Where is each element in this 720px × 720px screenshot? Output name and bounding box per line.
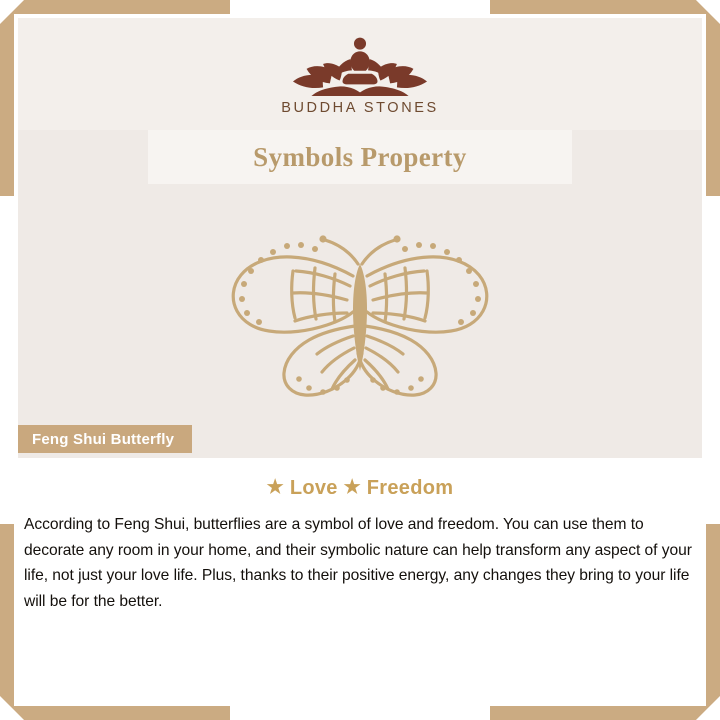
frame-corner-bottom-right-vertical bbox=[706, 524, 720, 720]
star-icon-left: ★ bbox=[267, 477, 284, 498]
frame-corner-top-left-horizontal bbox=[0, 0, 230, 14]
page-title: Symbols Property bbox=[253, 142, 467, 173]
frame-corner-bottom-left-horizontal bbox=[0, 706, 230, 720]
frame-corner-top-right-vertical bbox=[706, 0, 720, 196]
brand-name: BUDDHA STONES bbox=[281, 100, 439, 116]
brand-header: BUDDHA STONES bbox=[18, 18, 702, 130]
description-paragraph: According to Feng Shui, butterflies are … bbox=[22, 512, 698, 614]
title-ribbon: Symbols Property bbox=[148, 130, 572, 184]
subheading-word-love: Love bbox=[290, 477, 338, 499]
illustration-area bbox=[18, 184, 702, 458]
subheading: ★ Love ★ Freedom bbox=[22, 476, 698, 500]
frame-corner-top-left-vertical bbox=[0, 0, 14, 196]
lotus-meditation-figure-icon bbox=[286, 30, 434, 98]
category-tag-label: Feng Shui Butterfly bbox=[32, 431, 174, 448]
frame-corner-top-right-horizontal bbox=[490, 0, 720, 14]
frame-corner-bottom-left-vertical bbox=[0, 524, 14, 720]
content-panel: BUDDHA STONES Symbols Property bbox=[18, 18, 702, 702]
category-tag: Feng Shui Butterfly bbox=[18, 425, 192, 453]
frame-corner-bottom-right-horizontal bbox=[490, 706, 720, 720]
poster-canvas: BUDDHA STONES Symbols Property bbox=[0, 0, 720, 720]
star-icon-middle: ★ bbox=[344, 477, 361, 498]
description-block: ★ Love ★ Freedom According to Feng Shui,… bbox=[18, 458, 702, 702]
subheading-word-freedom: Freedom bbox=[367, 477, 454, 499]
butterfly-icon bbox=[195, 214, 525, 429]
